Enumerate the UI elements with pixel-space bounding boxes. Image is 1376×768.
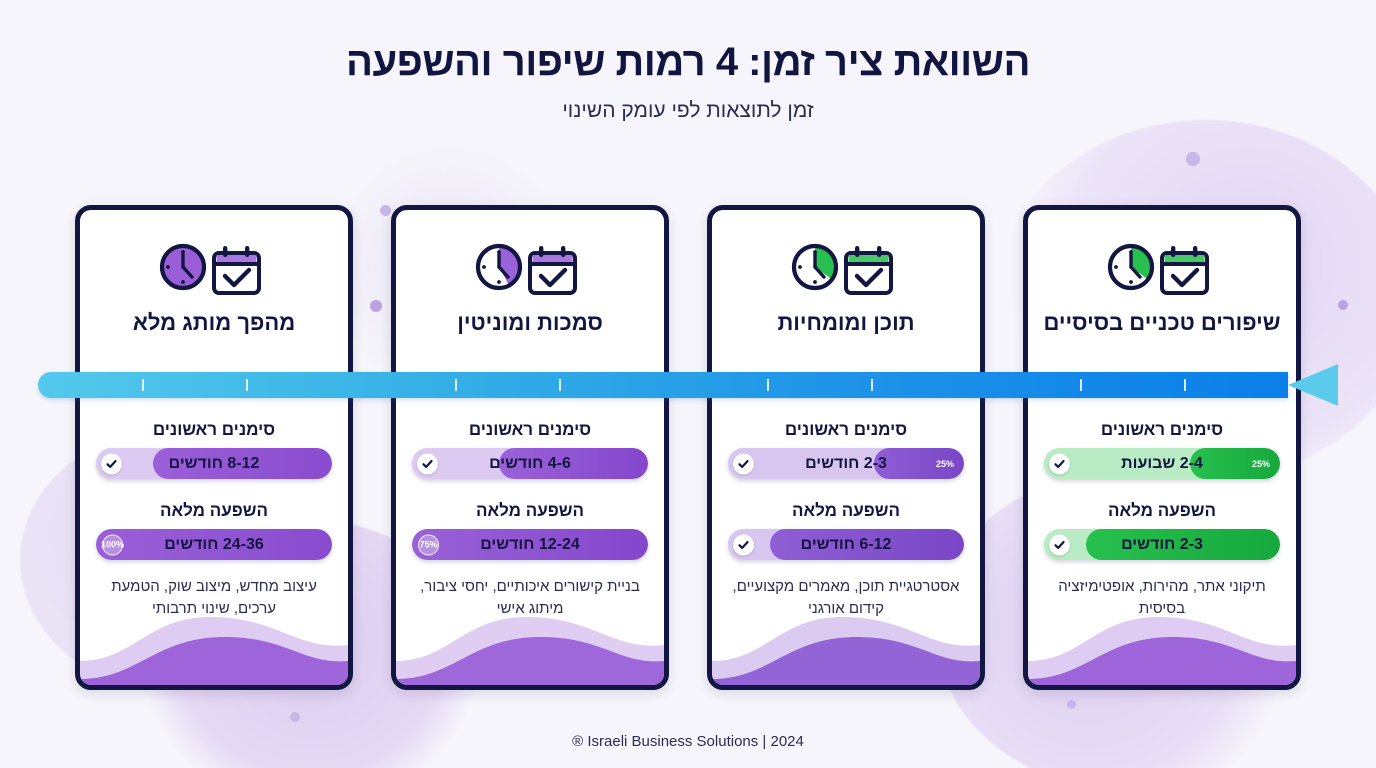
card-title: תוכן ומומחיות bbox=[763, 310, 928, 368]
card-title: סמכות ומוניטין bbox=[443, 310, 617, 368]
first-signs-metric: סימנים ראשונים 25% 2-4 שבועות bbox=[1028, 420, 1296, 479]
timeline-tick bbox=[1080, 379, 1082, 391]
timeline-tick bbox=[767, 379, 769, 391]
card-title: שיפורים טכניים בסיסיים bbox=[1030, 310, 1295, 368]
full-impact-label: השפעה מלאה bbox=[412, 501, 648, 521]
timeline-tick bbox=[142, 379, 144, 391]
full-impact-check-icon bbox=[733, 534, 754, 555]
page-title: השוואת ציר זמן: 4 רמות שיפור והשפעה bbox=[0, 40, 1376, 85]
first-signs-bar-value: 2-4 שבועות bbox=[1121, 455, 1203, 473]
full-impact-bar[interactable]: 6-12 חודשים bbox=[728, 529, 964, 560]
full-impact-percent-badge: 100% bbox=[102, 534, 123, 555]
full-impact-bar-value: 24-36 חודשים bbox=[164, 536, 264, 554]
clock-calendar-icon bbox=[157, 232, 271, 304]
full-impact-label: השפעה מלאה bbox=[1044, 501, 1280, 521]
first-signs-percent-badge: 25% bbox=[936, 459, 954, 469]
full-impact-percent-badge: 75% bbox=[418, 534, 439, 555]
first-signs-bar[interactable]: 25% 2-4 שבועות bbox=[1044, 448, 1280, 479]
first-signs-label: סימנים ראשונים bbox=[96, 420, 332, 440]
page-header: השוואת ציר זמן: 4 רמות שיפור והשפעה זמן … bbox=[0, 0, 1376, 123]
clock-calendar-icon bbox=[1105, 232, 1219, 304]
full-impact-bar[interactable]: 2-3 חודשים bbox=[1044, 529, 1280, 560]
footer-credit: ® Israeli Business Solutions | 2024 bbox=[0, 733, 1376, 750]
background-dot bbox=[290, 712, 300, 722]
first-signs-label: סימנים ראשונים bbox=[728, 420, 964, 440]
card-description: אסטרטגיית תוכן, מאמרים מקצועיים, קידום א… bbox=[712, 576, 980, 620]
first-signs-bar-value: 4-6 חודשים bbox=[489, 455, 571, 473]
background-dot bbox=[1186, 152, 1200, 166]
full-impact-bar-value: 2-3 חודשים bbox=[1121, 536, 1203, 554]
comparison-card-4[interactable]: מהפך מותג מלא סימנים ראשונים 8-12 חודשים… bbox=[75, 205, 353, 690]
full-impact-label: השפעה מלאה bbox=[96, 501, 332, 521]
full-impact-metric: השפעה מלאה 100% 24-36 חודשים bbox=[80, 501, 348, 560]
first-signs-check-icon bbox=[733, 453, 754, 474]
first-signs-bar[interactable]: 25% 2-3 חודשים bbox=[728, 448, 964, 479]
clock-calendar-icon bbox=[789, 232, 903, 304]
first-signs-metric: סימנים ראשונים 8-12 חודשים bbox=[80, 420, 348, 479]
comparison-card-2[interactable]: תוכן ומומחיות סימנים ראשונים 25% 2-3 חוד… bbox=[707, 205, 985, 690]
full-impact-metric: השפעה מלאה 2-3 חודשים bbox=[1028, 501, 1296, 560]
timeline-tick bbox=[1184, 379, 1186, 391]
timeline-arrow bbox=[38, 372, 1338, 398]
full-impact-bar-value: 6-12 חודשים bbox=[801, 536, 892, 554]
first-signs-bar[interactable]: 8-12 חודשים bbox=[96, 448, 332, 479]
first-signs-bar-value: 8-12 חודשים bbox=[169, 455, 260, 473]
full-impact-metric: השפעה מלאה 6-12 חודשים bbox=[712, 501, 980, 560]
first-signs-bar-value: 2-3 חודשים bbox=[805, 455, 887, 473]
clock-calendar-icon bbox=[473, 232, 587, 304]
timeline-bar bbox=[38, 372, 1288, 398]
first-signs-percent-badge: 25% bbox=[1252, 459, 1270, 469]
full-impact-label: השפעה מלאה bbox=[728, 501, 964, 521]
first-signs-check-icon bbox=[101, 453, 122, 474]
comparison-card-3[interactable]: סמכות ומוניטין סימנים ראשונים 4-6 חודשים… bbox=[391, 205, 669, 690]
first-signs-metric: סימנים ראשונים 25% 2-3 חודשים bbox=[712, 420, 980, 479]
card-description: בניית קישורים איכותיים, יחסי ציבור, מיתו… bbox=[396, 576, 664, 620]
timeline-tick bbox=[559, 379, 561, 391]
first-signs-check-icon bbox=[417, 453, 438, 474]
timeline-tick bbox=[871, 379, 873, 391]
card-title: מהפך מותג מלא bbox=[119, 310, 309, 368]
first-signs-label: סימנים ראשונים bbox=[412, 420, 648, 440]
card-description: עיצוב מחדש, מיצוב שוק, הטמעת ערכים, שינו… bbox=[80, 576, 348, 620]
full-impact-metric: השפעה מלאה 75% 12-24 חודשים bbox=[396, 501, 664, 560]
comparison-card-1[interactable]: שיפורים טכניים בסיסיים סימנים ראשונים 25… bbox=[1023, 205, 1301, 690]
full-impact-bar[interactable]: 100% 24-36 חודשים bbox=[96, 529, 332, 560]
full-impact-check-icon bbox=[1049, 534, 1070, 555]
timeline-tick bbox=[455, 379, 457, 391]
background-dot bbox=[1067, 700, 1076, 709]
first-signs-bar[interactable]: 4-6 חודשים bbox=[412, 448, 648, 479]
full-impact-bar[interactable]: 75% 12-24 חודשים bbox=[412, 529, 648, 560]
first-signs-label: סימנים ראשונים bbox=[1044, 420, 1280, 440]
card-description: תיקוני אתר, מהירות, אופטימיזציה בסיסית bbox=[1028, 576, 1296, 620]
first-signs-metric: סימנים ראשונים 4-6 חודשים bbox=[396, 420, 664, 479]
first-signs-check-icon bbox=[1049, 453, 1070, 474]
comparison-cards-row: שיפורים טכניים בסיסיים סימנים ראשונים 25… bbox=[0, 205, 1376, 690]
timeline-tick bbox=[246, 379, 248, 391]
full-impact-bar-value: 12-24 חודשים bbox=[480, 536, 580, 554]
page-subtitle: זמן לתוצאות לפי עומק השינוי bbox=[0, 99, 1376, 123]
timeline-arrowhead-icon bbox=[1288, 364, 1338, 406]
